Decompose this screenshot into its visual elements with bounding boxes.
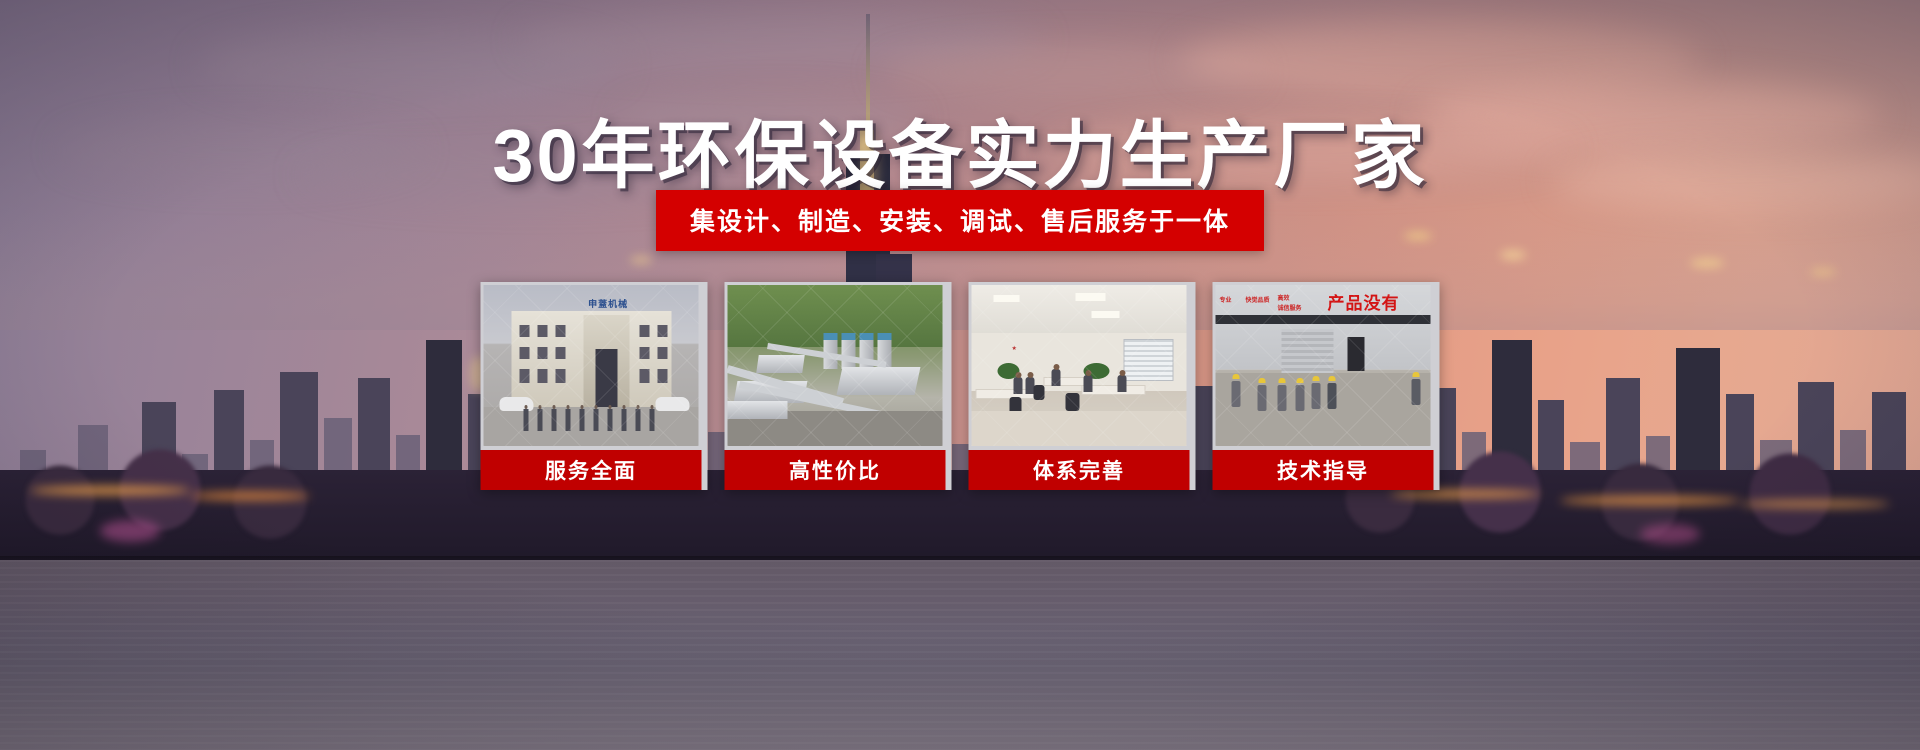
water-reflection [0,560,1920,750]
wall-slogan-small-1: 专业 [1220,295,1232,304]
wall-slogan-small-2: 快觉品质 [1246,295,1270,304]
card-caption: 高性价比 [725,450,946,490]
wall-slogan-small-3: 高效 [1278,293,1290,302]
card-photo-aerial-plant [728,285,943,446]
feature-card-row: 申蓋机械 [481,282,1440,490]
feature-card-service[interactable]: 申蓋机械 [481,282,708,490]
building-sign-text: 申蓋机械 [588,297,628,310]
feature-card-guidance[interactable]: 产品没有 专业 快觉品质 高效 诚信服务 技术指导 [1213,282,1440,490]
wall-logo: ★ [1012,345,1017,352]
subtitle-badge: 集设计、制造、安装、调试、售后服务于一体 [656,190,1264,251]
card-caption: 体系完善 [969,450,1190,490]
feature-card-system[interactable]: ★ 体系完善 [969,282,1196,490]
feature-card-value[interactable]: 高性价比 [725,282,952,490]
page-title: 30年环保设备实力生产厂家 [0,96,1920,203]
card-photo-office-building: 申蓋机械 [484,285,699,446]
card-caption: 服务全面 [481,450,702,490]
hero-banner: 30年环保设备实力生产厂家 集设计、制造、安装、调试、售后服务于一体 申蓋机械 [0,0,1920,750]
wall-slogan-small-4: 诚信服务 [1278,303,1302,312]
card-caption: 技术指导 [1213,450,1434,490]
wall-slogan: 产品没有 [1328,289,1400,314]
card-photo-factory-workers: 产品没有 专业 快觉品质 高效 诚信服务 [1216,285,1431,446]
card-photo-office-room: ★ [972,285,1187,446]
